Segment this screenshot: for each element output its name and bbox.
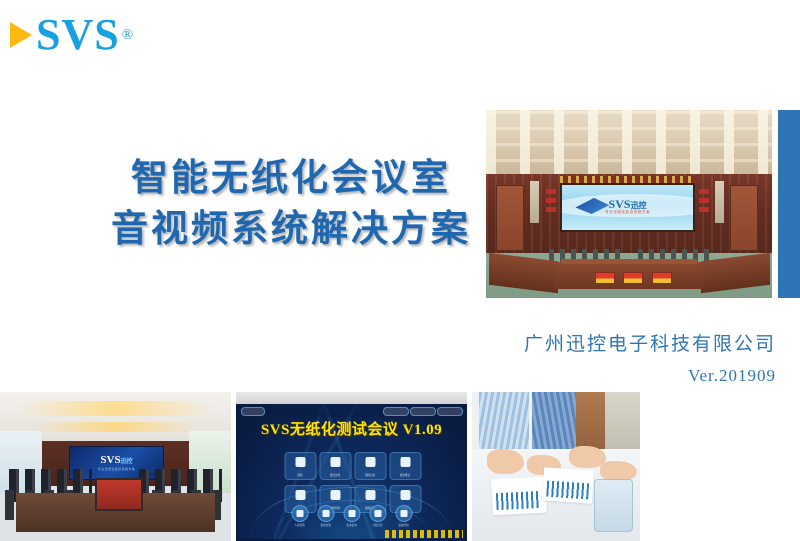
bottom-filmstrip: SVS迅控 专业无纸化会议系统方案 (0, 392, 800, 541)
t3-hand-1 (487, 449, 524, 474)
t2-header-pill-2[interactable] (410, 407, 436, 416)
t2-grid-label-3: 会议笔记 (390, 473, 420, 477)
t2-header-pill-1[interactable] (383, 407, 409, 416)
hero-pillar-left (530, 181, 539, 222)
t2-grid-label-1: 会议文件 (320, 473, 350, 477)
hero-side-banner-left (546, 185, 556, 211)
hero-screen-subtitle: 专业无纸化会议系统方案 (562, 210, 692, 215)
t3-chart-sheet-1 (491, 477, 547, 516)
t2-dock-label-3: 分组讨论 (369, 523, 386, 527)
t1-screen-logo-text: SVS (100, 454, 120, 466)
t2-dock-item-1[interactable]: 会议交流 (317, 505, 334, 527)
t2-header-pill-0[interactable] (241, 407, 265, 416)
t3-chart-sheet-2 (541, 468, 594, 504)
registered-trademark-icon: ® (122, 27, 133, 44)
person-icon (291, 505, 308, 522)
hero-tabletop-display-2 (623, 272, 643, 284)
chat-icon (317, 505, 334, 522)
thumbnail-paperless-conference-app: SVS无纸化测试会议 V1.09 议程 会议文件 同屏讨论 会议笔记 公共文件 … (236, 392, 467, 541)
t2-grid-item-3[interactable]: 会议笔记 (389, 452, 421, 480)
hero-door-left (496, 185, 524, 251)
brand-logo: SVS ® (10, 12, 133, 58)
hero-side-banner-right (699, 185, 709, 211)
version-label: Ver.201909 (524, 366, 776, 386)
t2-dock-item-2[interactable]: 表决表决 (343, 505, 360, 527)
t3-hand-4 (600, 461, 637, 482)
t2-app-title: SVS无纸化测试会议 V1.09 (238, 418, 465, 439)
t1-table-monitor (95, 478, 143, 510)
t2-dock-label-2: 表决表决 (343, 523, 360, 527)
t2-dock-label-0: 人员签到 (291, 523, 308, 527)
clipboard-icon (295, 457, 305, 467)
briefcase-icon (400, 490, 410, 500)
t1-ceiling-light-2 (32, 422, 198, 432)
hero-display-screen: SVS迅控 专业无纸化会议系统方案 (560, 183, 694, 232)
title-line-1: 智能无纸化会议室 (96, 152, 486, 203)
t2-grid-item-2[interactable]: 同屏讨论 (354, 452, 386, 480)
t2-grid-label-0: 议程 (285, 473, 315, 477)
folder-icon (295, 490, 305, 500)
screen-share-icon (365, 457, 375, 467)
t2-status-bar (385, 530, 463, 538)
t2-dock-label-1: 会议交流 (317, 523, 334, 527)
hero-conference-room-image: SVS迅控 专业无纸化会议系统方案 (486, 110, 772, 298)
hero-screen-logo-suffix: 迅控 (631, 201, 647, 210)
t1-screen-logo: SVS迅控 (70, 454, 162, 466)
hero-screen-logo-text: SVS (609, 197, 631, 211)
document-icon (330, 457, 340, 467)
t2-icon-grid: 议程 会议文件 同屏讨论 会议笔记 公共文件 文件同步 视频直播 资料库 (284, 452, 419, 513)
t2-header-pill-3[interactable] (437, 407, 463, 416)
thumbnail-team-collaboration-photo (472, 392, 640, 541)
t2-bottom-dock: 人员签到 会议交流 表决表决 分组讨论 设备控制 (291, 505, 412, 527)
hero-tabletop-display-3 (652, 272, 672, 284)
t2-grid-item-0[interactable]: 议程 (284, 452, 316, 480)
refresh-icon (330, 490, 340, 500)
t3-bar-chart-2 (546, 481, 589, 500)
title-line-2: 音视频系统解决方案 (96, 203, 486, 254)
accent-bar (778, 110, 800, 298)
t2-window-titlebar (236, 392, 467, 404)
t2-dock-label-4: 设备控制 (395, 523, 412, 527)
t3-bar-chart-1 (496, 492, 542, 511)
hero-banner-text (560, 176, 694, 184)
t1-ceiling-light-1 (18, 401, 212, 416)
t2-dock-item-4[interactable]: 设备控制 (395, 505, 412, 527)
company-name: 广州迅控电子科技有限公司 (524, 330, 776, 359)
t3-water-glass (594, 479, 633, 532)
triangle-play-icon (10, 22, 32, 48)
hero-tabletop-display-1 (595, 272, 615, 284)
slide-root: SVS ® 智能无纸化会议室 音视频系统解决方案 SVS迅控 专业无纸化会议系统… (0, 0, 800, 541)
t2-app-header (238, 404, 465, 417)
monitor-icon (395, 505, 412, 522)
t1-screen-logo-suffix: 迅控 (121, 459, 133, 465)
t2-dock-item-0[interactable]: 人员签到 (291, 505, 308, 527)
t2-grid-label-2: 同屏讨论 (355, 473, 385, 477)
hero-ceiling-lights (486, 110, 772, 178)
thumbnail-conference-room-with-delegates: SVS迅控 专业无纸化会议系统方案 (0, 392, 231, 541)
vote-icon (343, 505, 360, 522)
camera-icon (365, 490, 375, 500)
hero-pillar-right (715, 181, 724, 222)
group-icon (369, 505, 386, 522)
t2-dock-item-3[interactable]: 分组讨论 (369, 505, 386, 527)
note-icon (400, 457, 410, 467)
company-block: 广州迅控电子科技有限公司 Ver.201909 (524, 330, 776, 386)
hero-door-right (730, 185, 758, 251)
logo-text: SVS (36, 13, 120, 57)
t2-grid-item-1[interactable]: 会议文件 (319, 452, 351, 480)
page-title: 智能无纸化会议室 音视频系统解决方案 (96, 152, 486, 254)
t2-app-canvas: SVS无纸化测试会议 V1.09 议程 会议文件 同屏讨论 会议笔记 公共文件 … (238, 404, 465, 539)
